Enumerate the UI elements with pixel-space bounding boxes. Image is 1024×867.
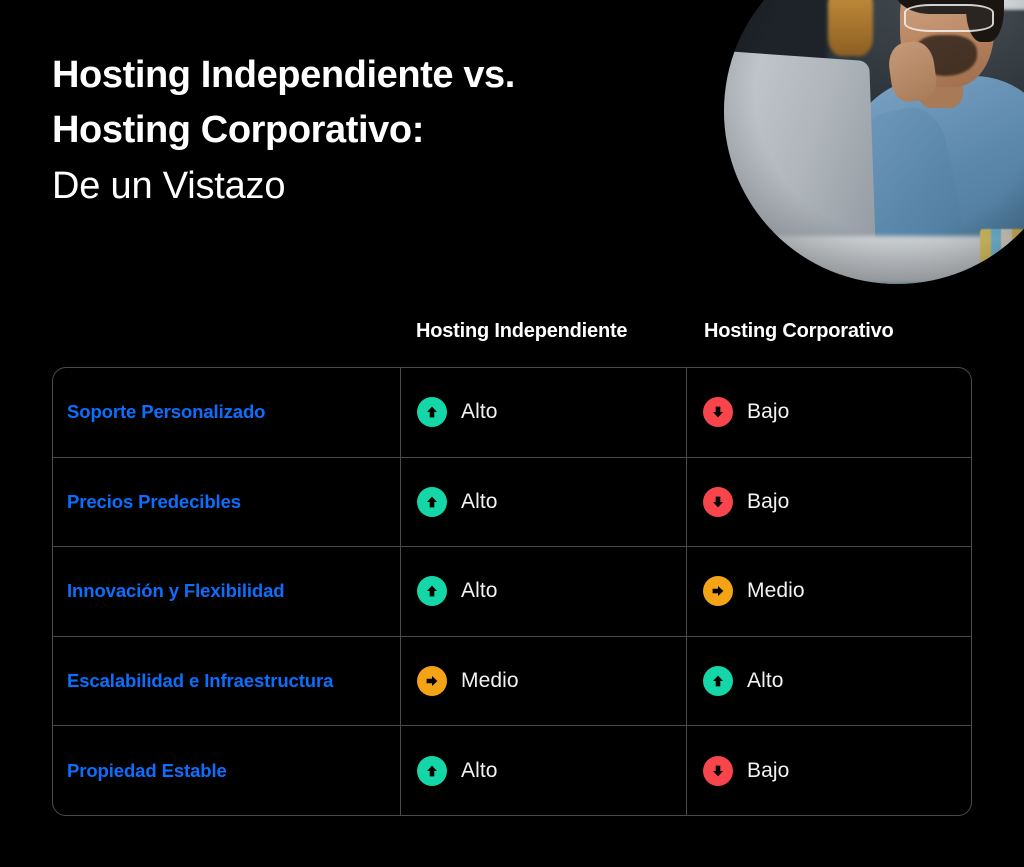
column-header-independiente: Hosting Independiente [416,320,627,343]
value-label: Bajo [747,400,789,424]
feature-cell: Propiedad Estable [53,726,401,816]
value-cell-corporativo: Bajo [687,368,972,457]
value-label: Alto [461,490,498,514]
column-header-corporativo: Hosting Corporativo [704,320,894,343]
feature-cell: Soporte Personalizado [53,368,401,457]
arrow-up-icon [417,756,447,786]
arrow-down-icon [703,756,733,786]
photo-vignette [724,0,1024,284]
value-cell-corporativo: Medio [687,547,972,636]
value-cell-corporativo: Bajo [687,458,972,547]
title-line-2: Hosting Corporativo: [52,103,692,158]
comparison-table: Soporte Personalizado Alto Bajo Precios … [52,367,972,816]
value-label: Alto [461,759,498,783]
page-title: Hosting Independiente vs. Hosting Corpor… [52,48,692,214]
value-cell-independiente: Alto [401,547,687,636]
feature-label: Escalabilidad e Infraestructura [67,668,333,694]
value-cell-independiente: Alto [401,458,687,547]
infographic-canvas: Hosting Independiente vs. Hosting Corpor… [0,0,1024,867]
table-column-headers: Hosting Independiente Hosting Corporativ… [52,320,972,356]
feature-label: Propiedad Estable [67,758,227,784]
arrow-down-icon [703,397,733,427]
feature-cell: Innovación y Flexibilidad [53,547,401,636]
arrow-up-icon [417,487,447,517]
table-row: Escalabilidad e Infraestructura Medio Al… [53,637,971,727]
value-cell-corporativo: Bajo [687,726,972,816]
arrow-up-icon [703,666,733,696]
title-subtitle: De un Vistazo [52,158,692,214]
table-row: Soporte Personalizado Alto Bajo [53,368,971,458]
table-row: Innovación y Flexibilidad Alto Medio [53,547,971,637]
value-label: Medio [747,579,805,603]
hero-photo [724,0,1024,284]
table-row: Precios Predecibles Alto Bajo [53,458,971,548]
arrow-right-icon [417,666,447,696]
value-label: Bajo [747,490,789,514]
arrow-up-icon [417,397,447,427]
feature-label: Innovación y Flexibilidad [67,578,285,604]
value-label: Alto [461,400,498,424]
value-cell-independiente: Alto [401,726,687,816]
value-label: Alto [747,669,784,693]
value-cell-corporativo: Alto [687,637,972,726]
feature-label: Precios Predecibles [67,489,241,515]
value-label: Bajo [747,759,789,783]
value-cell-independiente: Medio [401,637,687,726]
value-label: Alto [461,579,498,603]
value-label: Medio [461,669,519,693]
arrow-right-icon [703,576,733,606]
feature-label: Soporte Personalizado [67,399,265,425]
arrow-down-icon [703,487,733,517]
table-row: Propiedad Estable Alto Bajo [53,726,971,816]
value-cell-independiente: Alto [401,368,687,457]
arrow-up-icon [417,576,447,606]
feature-cell: Precios Predecibles [53,458,401,547]
title-line-1: Hosting Independiente vs. [52,48,692,103]
feature-cell: Escalabilidad e Infraestructura [53,637,401,726]
